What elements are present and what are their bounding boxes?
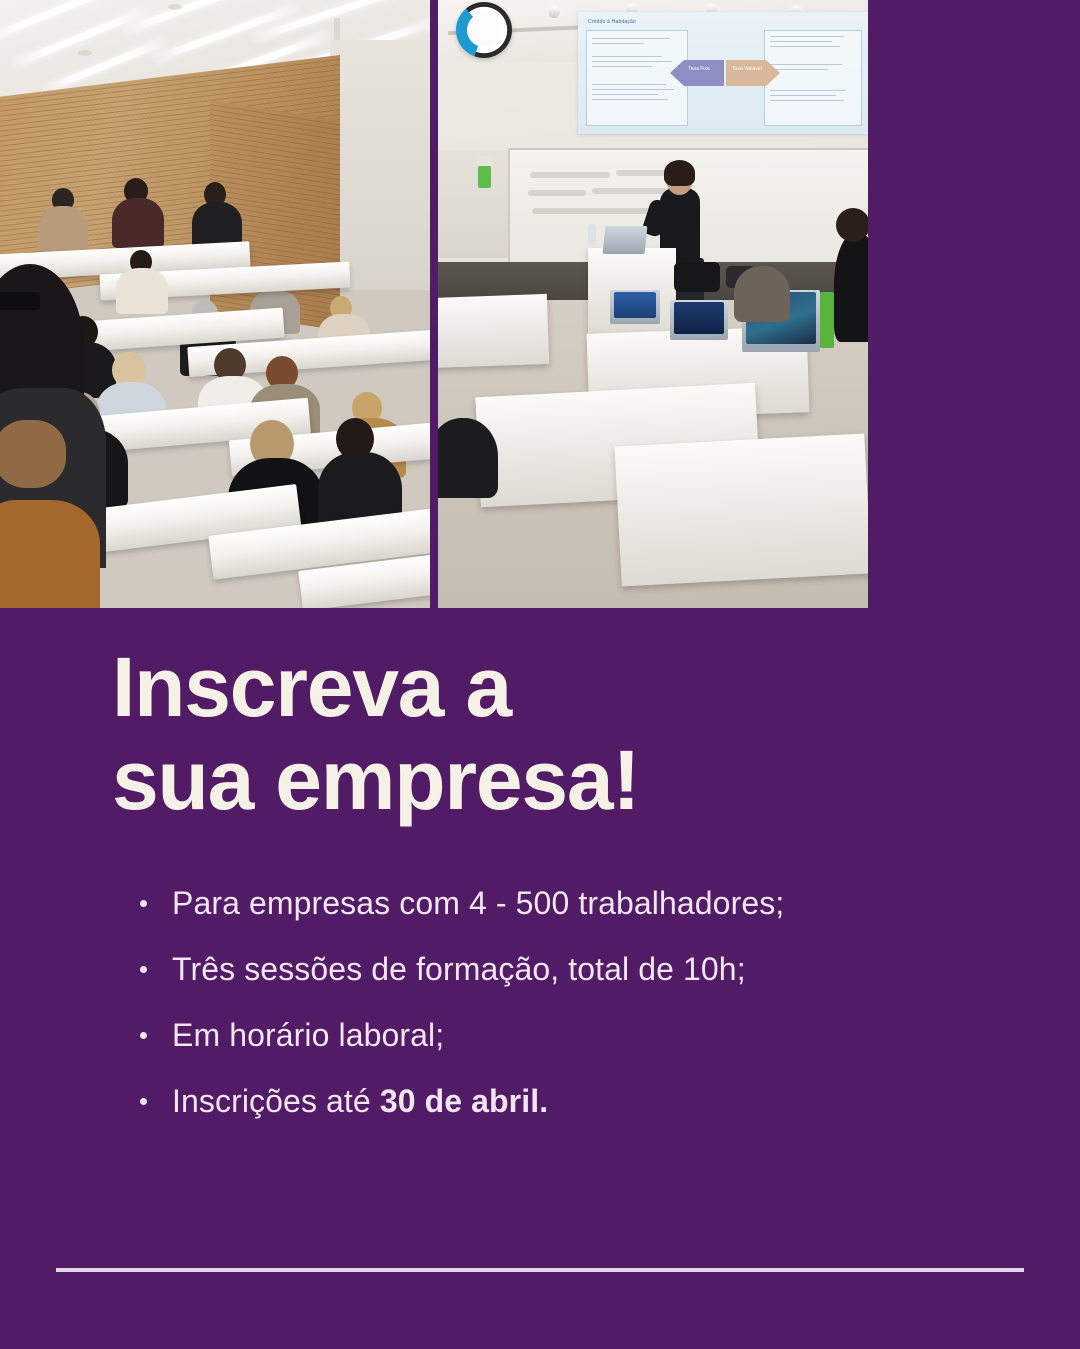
slide-arrow-left-label: Taxa Fixa xyxy=(682,66,716,72)
ceiling-vent xyxy=(168,4,182,10)
audience-person xyxy=(38,206,88,252)
laptop-screen xyxy=(614,292,656,318)
slide-text-line xyxy=(592,56,662,57)
photo-band: Crédito à Habitação xyxy=(0,0,868,608)
bullet-dot-icon xyxy=(140,1098,147,1105)
list-item: Em horário laboral; xyxy=(136,1016,1036,1054)
foreground-sleeve xyxy=(0,500,100,608)
projection-screen: Crédito à Habitação xyxy=(578,12,868,134)
photo-divider xyxy=(430,0,438,608)
list-item: Três sessões de formação, total de 10h; xyxy=(136,950,1036,988)
slide-text-line xyxy=(770,64,842,65)
audience-person xyxy=(116,268,168,314)
whiteboard-writing xyxy=(532,208,652,214)
heading-line-1: Inscreva a xyxy=(112,641,1012,734)
slide-text-line xyxy=(770,46,840,47)
photo-presenter-classroom: Crédito à Habitação xyxy=(438,0,868,608)
slide-text-line xyxy=(592,43,644,44)
whiteboard-writing xyxy=(528,190,586,196)
bullet-dot-icon xyxy=(140,1032,147,1039)
attendee-head-right xyxy=(836,208,868,242)
slide-text-line xyxy=(592,38,670,39)
front-desk xyxy=(615,434,868,587)
slide-text-line xyxy=(592,84,666,85)
slide-text-line xyxy=(592,61,672,62)
green-object xyxy=(820,292,834,348)
slide-text-line xyxy=(592,66,652,67)
slide-text-line xyxy=(770,90,846,91)
photo-lecture-hall-audience xyxy=(0,0,430,608)
slide-text-line xyxy=(770,69,828,70)
presenter-hair xyxy=(664,160,695,186)
poster-root: Crédito à Habitação xyxy=(0,0,1080,1349)
bag-icon xyxy=(674,262,720,292)
badge-inner xyxy=(467,13,501,47)
foreground-hand xyxy=(0,420,66,488)
front-desk xyxy=(438,294,549,368)
bullet-dot-icon xyxy=(140,966,147,973)
bullet-text: Para empresas com 4 - 500 trabalhadores; xyxy=(172,885,784,921)
slide-text-line xyxy=(770,100,844,101)
slide-text-line xyxy=(770,36,844,37)
attendee-person-left xyxy=(438,418,498,498)
list-item: Para empresas com 4 - 500 trabalhadores; xyxy=(136,884,1036,922)
slide-right-column xyxy=(764,30,862,126)
attendee-person-right xyxy=(834,232,868,342)
glasses-icon xyxy=(0,292,40,310)
heading-line-2: sua empresa! xyxy=(112,734,1012,827)
laptop-podium xyxy=(603,226,648,254)
bullet-dot-icon xyxy=(140,900,147,907)
bullet-text: Em horário laboral; xyxy=(172,1017,444,1053)
slide-title: Crédito à Habitação xyxy=(588,19,636,25)
slide-text-line xyxy=(592,94,658,95)
wall-dispenser-bracket xyxy=(476,156,493,166)
page-title: Inscreva a sua empresa! xyxy=(112,641,1012,827)
water-bottle-icon xyxy=(588,224,596,246)
side-wall xyxy=(330,40,430,290)
wall-dispenser-icon xyxy=(478,166,491,188)
slide-left-column xyxy=(586,30,688,126)
divider-rule xyxy=(56,1268,1024,1272)
ceiling-vent xyxy=(78,50,92,56)
spotlight-icon xyxy=(548,6,560,18)
slide-text-line xyxy=(592,89,674,90)
slide-arrow-right-label: Taxa Variável xyxy=(730,66,764,72)
attendee-person xyxy=(734,266,790,322)
laptop-screen xyxy=(674,302,724,334)
bullet-text: Três sessões de formação, total de 10h; xyxy=(172,951,746,987)
slide-text-line xyxy=(592,99,668,100)
audience-person xyxy=(112,198,164,248)
feature-bullet-list: Para empresas com 4 - 500 trabalhadores;… xyxy=(136,884,1036,1148)
list-item: Inscrições até 30 de abril. xyxy=(136,1082,1036,1120)
wall-clock-badge-icon xyxy=(456,2,512,58)
slide-text-line xyxy=(770,95,836,96)
whiteboard-writing xyxy=(530,172,610,178)
bullet-text: Inscrições até xyxy=(172,1083,380,1119)
slide-text-line xyxy=(770,41,832,42)
bullet-text-bold: 30 de abril. xyxy=(380,1083,548,1119)
